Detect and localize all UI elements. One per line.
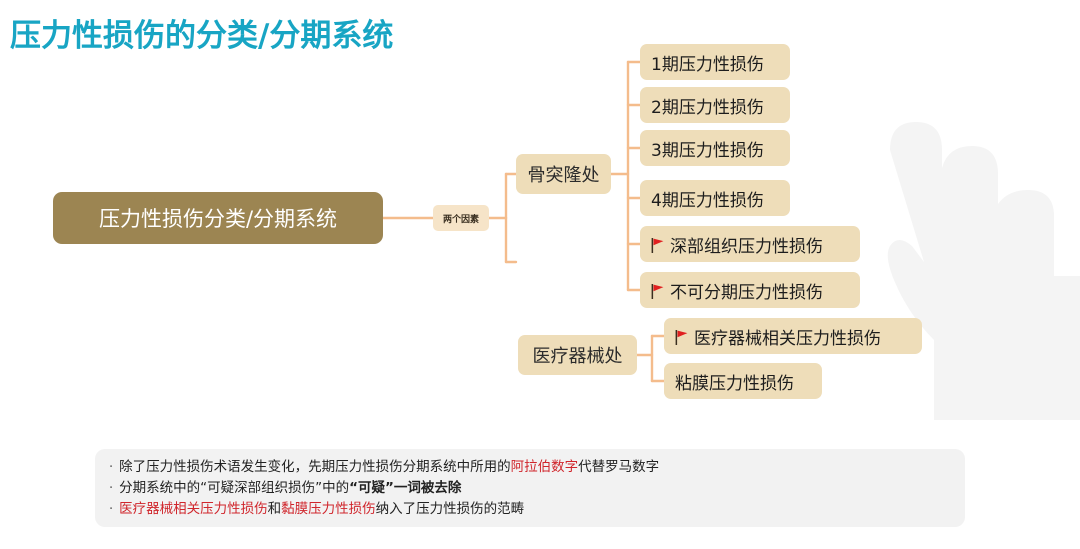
branch-node-label: 医疗器械处 (533, 342, 623, 368)
branch-node-label: 骨突隆处 (528, 161, 600, 187)
page-title: 压力性损伤的分类/分期系统 (10, 10, 393, 55)
note-segment-highlight: 黏膜压力性损伤 (281, 501, 376, 517)
flag-icon (651, 284, 664, 299)
note-text: 医疗器械相关压力性损伤和黏膜压力性损伤纳入了压力性损伤的范畴 (119, 499, 524, 520)
note-line-3: · 医疗器械相关压力性损伤和黏膜压力性损伤纳入了压力性损伤的范畴 (109, 499, 951, 520)
note-segment: 除了压力性损伤术语发生变化，先期压力性损伤分期系统中所用的 (119, 459, 511, 475)
leaf-node-label: 粘膜压力性损伤 (675, 369, 794, 394)
branch-node-bony-prominence[interactable]: 骨突隆处 (516, 154, 611, 194)
note-line-2: · 分期系统中的“可疑深部组织损伤”中的“可疑”一词被去除 (109, 478, 951, 499)
leaf-node-label: 不可分期压力性损伤 (670, 278, 823, 303)
note-segment: 代替罗马数字 (578, 459, 659, 475)
note-bullet: · (109, 457, 113, 478)
note-segment-bold: “可疑” (349, 480, 394, 496)
notes-panel: · 除了压力性损伤术语发生变化，先期压力性损伤分期系统中所用的阿拉伯数字代替罗马… (95, 449, 965, 527)
slide-canvas: 压力性损伤的分类/分期系统 (0, 0, 1080, 549)
leaf-node-deep-tissue[interactable]: 深部组织压力性损伤 (640, 226, 860, 262)
leaf-node-stage-4[interactable]: 4期压力性损伤 (640, 180, 790, 216)
edge-label-two-factors: 两个因素 (433, 205, 489, 231)
leaf-node-stage-3[interactable]: 3期压力性损伤 (640, 130, 790, 166)
note-text: 分期系统中的“可疑深部组织损伤”中的“可疑”一词被去除 (119, 478, 461, 499)
leaf-node-label: 4期压力性损伤 (651, 186, 764, 211)
edge-label-text: 两个因素 (443, 212, 479, 225)
root-node[interactable]: 压力性损伤分类/分期系统 (53, 192, 383, 244)
leaf-node-stage-1[interactable]: 1期压力性损伤 (640, 44, 790, 80)
note-segment: 纳入了压力性损伤的范畴 (376, 501, 525, 517)
note-segment: 分期系统中的“可疑深部组织损伤”中的 (119, 480, 349, 496)
flag-icon (651, 238, 664, 253)
leaf-node-mucosal[interactable]: 粘膜压力性损伤 (664, 363, 822, 399)
leaf-node-device-related[interactable]: 医疗器械相关压力性损伤 (664, 318, 922, 354)
note-segment-highlight: 阿拉伯数字 (511, 459, 579, 475)
leaf-node-label: 医疗器械相关压力性损伤 (694, 324, 881, 349)
leaf-node-stage-2[interactable]: 2期压力性损伤 (640, 87, 790, 123)
leaf-node-label: 2期压力性损伤 (651, 93, 764, 118)
note-segment-bold: 一词被去除 (394, 480, 462, 496)
flag-icon (675, 330, 688, 345)
leaf-node-label: 3期压力性损伤 (651, 136, 764, 161)
leaf-node-unstageable[interactable]: 不可分期压力性损伤 (640, 272, 860, 308)
note-text: 除了压力性损伤术语发生变化，先期压力性损伤分期系统中所用的阿拉伯数字代替罗马数字 (119, 457, 659, 478)
note-line-1: · 除了压力性损伤术语发生变化，先期压力性损伤分期系统中所用的阿拉伯数字代替罗马… (109, 457, 951, 478)
branch-node-medical-device[interactable]: 医疗器械处 (518, 335, 637, 375)
note-bullet: · (109, 478, 113, 499)
root-node-label: 压力性损伤分类/分期系统 (99, 203, 337, 233)
leaf-node-label: 深部组织压力性损伤 (670, 232, 823, 257)
note-segment-highlight: 医疗器械相关压力性损伤 (119, 501, 268, 517)
leaf-node-label: 1期压力性损伤 (651, 50, 764, 75)
note-bullet: · (109, 499, 113, 520)
note-segment: 和 (268, 501, 282, 517)
